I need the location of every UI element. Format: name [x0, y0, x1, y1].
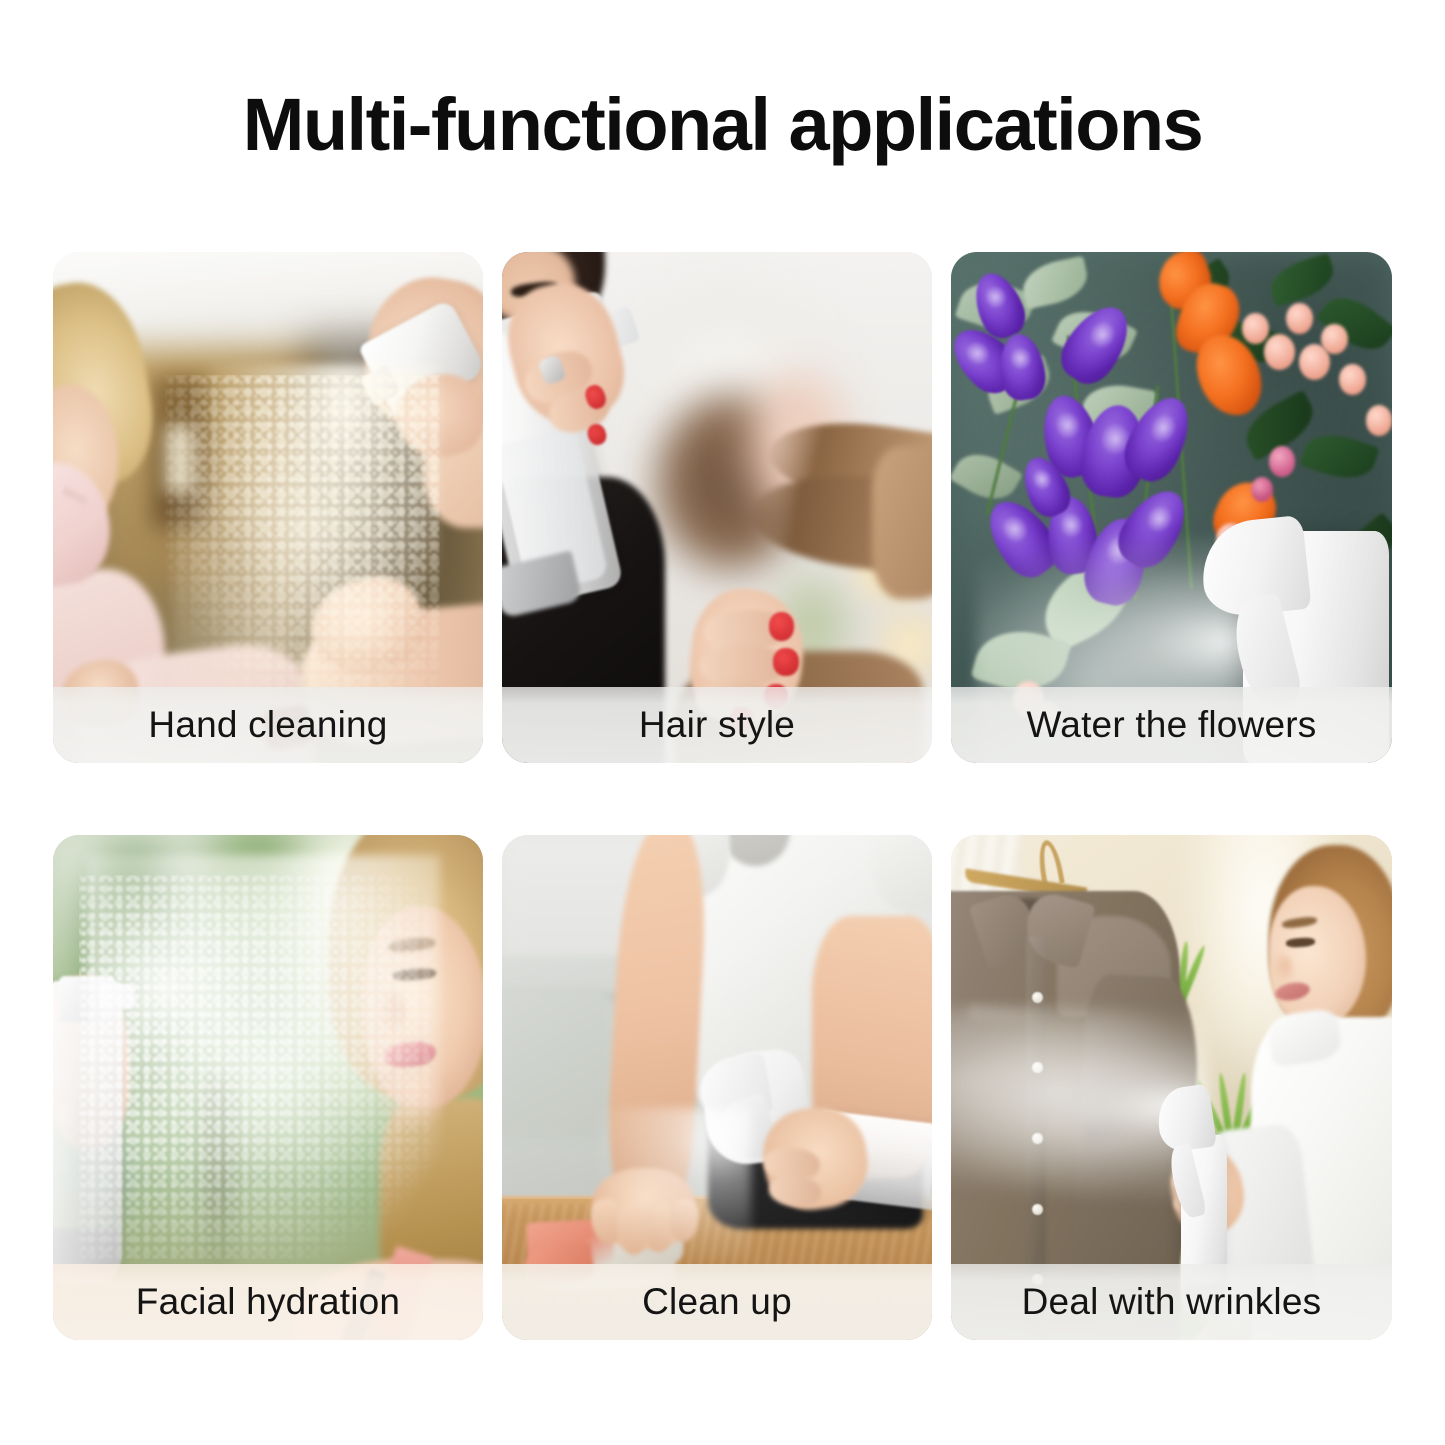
applications-grid: Hand cleaning	[53, 252, 1392, 1340]
application-tile-clean-up[interactable]: Clean up	[502, 835, 932, 1340]
infographic-page: Multi-functional applications	[0, 0, 1445, 1445]
tile-caption: Hair style	[502, 687, 932, 763]
tile-caption: Hand cleaning	[53, 687, 483, 763]
tile-caption: Facial hydration	[53, 1264, 483, 1340]
application-tile-hand-cleaning[interactable]: Hand cleaning	[53, 252, 483, 763]
application-tile-deal-with-wrinkles[interactable]: Deal with wrinkles	[951, 835, 1392, 1340]
tile-caption: Deal with wrinkles	[951, 1264, 1392, 1340]
tile-caption: Water the flowers	[951, 687, 1392, 763]
application-tile-hair-style[interactable]: Hair style	[502, 252, 932, 763]
application-tile-water-the-flowers[interactable]: Water the flowers	[951, 252, 1392, 763]
application-tile-facial-hydration[interactable]: Facial hydration	[53, 835, 483, 1340]
page-title: Multi-functional applications	[0, 88, 1445, 162]
tile-caption: Clean up	[502, 1264, 932, 1340]
